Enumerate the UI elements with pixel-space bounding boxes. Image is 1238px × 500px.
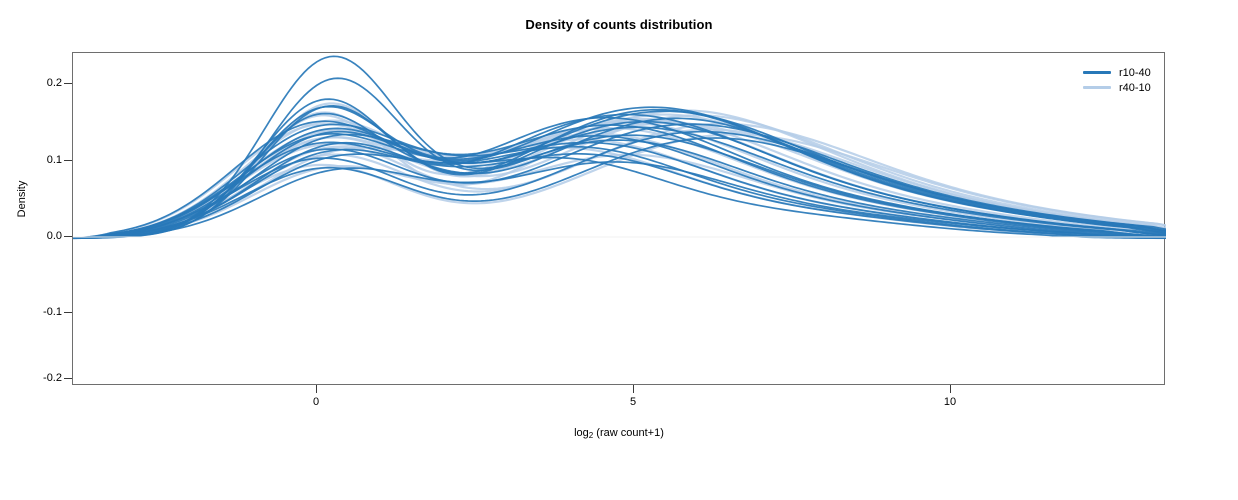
x-tick-label-2: 10 <box>944 396 956 408</box>
y-tick--0.2 <box>64 378 72 379</box>
y-tick-label-2: 0.0 <box>47 230 62 242</box>
x-axis-title-base: log <box>574 427 589 439</box>
x-axis-title-rest: (raw count+1) <box>593 427 664 439</box>
density-curves-dark-group <box>73 56 1166 238</box>
y-tick-0.0 <box>64 236 72 237</box>
y-tick-label-4: -0.2 <box>43 372 62 384</box>
y-tick-0.1 <box>64 160 72 161</box>
legend-item-r10-40[interactable]: r10-40 <box>1083 65 1179 80</box>
x-tick-label-0: 0 <box>313 396 319 408</box>
chart-title: Density of counts distribution <box>0 17 1238 32</box>
x-tick-label-1: 5 <box>630 396 636 408</box>
x-tick-10 <box>950 385 951 393</box>
plot-area <box>72 52 1165 385</box>
y-tick-0.2 <box>64 83 72 84</box>
x-axis-title: log2 (raw count+1) <box>0 427 1238 440</box>
y-tick--0.1 <box>64 312 72 313</box>
y-tick-label-3: -0.1 <box>43 306 62 318</box>
x-tick-0 <box>316 385 317 393</box>
density-plot-figure: Density of counts distribution 0.2 0.1 0… <box>0 0 1238 500</box>
legend-swatch-r10-40 <box>1083 71 1111 74</box>
y-tick-label-0: 0.2 <box>47 77 62 89</box>
density-curves-svg <box>73 53 1166 386</box>
legend-swatch-r40-10 <box>1083 86 1111 89</box>
legend: r10-40 r40-10 <box>1083 65 1179 95</box>
x-tick-5 <box>633 385 634 393</box>
legend-label-r10-40: r10-40 <box>1119 67 1151 79</box>
y-tick-label-1: 0.1 <box>47 154 62 166</box>
y-axis-title: Density <box>16 159 28 239</box>
legend-item-r40-10[interactable]: r40-10 <box>1083 80 1179 95</box>
legend-label-r40-10: r40-10 <box>1119 82 1151 94</box>
